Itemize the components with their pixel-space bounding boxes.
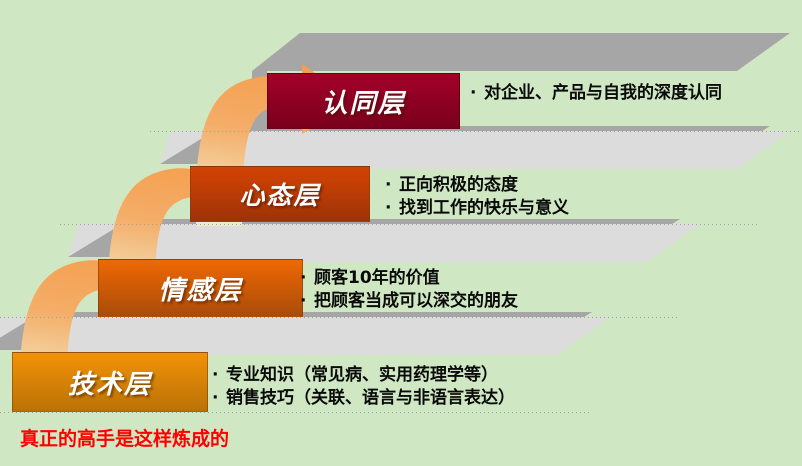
bullet-text: 找到工作的快乐与意义 bbox=[399, 198, 569, 218]
step-label-mindset: 心态层 bbox=[239, 176, 320, 212]
bullet-text: 顾客10年的价值 bbox=[314, 268, 440, 288]
step-label-emotion: 情感层 bbox=[158, 270, 242, 307]
bullet-list-technical: ·专业知识（常见病、实用药理学等） ·销售技巧（关联、语言与非语言表达） bbox=[212, 364, 515, 410]
bullet-marker-icon: · bbox=[300, 267, 314, 290]
bullet-marker-icon: · bbox=[300, 290, 314, 313]
bullet-text: 销售技巧（关联、语言与非语言表达） bbox=[226, 388, 515, 408]
bullet-marker-icon: · bbox=[212, 364, 226, 387]
list-item: ·专业知识（常见病、实用药理学等） bbox=[212, 364, 515, 387]
step-box-identity[interactable]: 认同层 bbox=[267, 73, 460, 129]
step-label-technical: 技术层 bbox=[68, 364, 152, 401]
step-box-emotion[interactable]: 情感层 bbox=[98, 259, 303, 317]
step-tread-identity bbox=[252, 33, 790, 71]
list-item: ·销售技巧（关联、语言与非语言表达） bbox=[212, 387, 515, 410]
bullet-marker-icon: · bbox=[385, 174, 399, 197]
bullet-text: 正向积极的态度 bbox=[399, 175, 518, 195]
bullet-list-emotion: ·顾客10年的价值 ·把顾客当成可以深交的朋友 bbox=[300, 267, 518, 313]
step-box-technical[interactable]: 技术层 bbox=[12, 352, 208, 412]
landing-band-2 bbox=[107, 224, 700, 262]
bullet-marker-icon: · bbox=[385, 197, 399, 220]
list-item: ·对企业、产品与自我的深度认同 bbox=[470, 82, 722, 105]
step-box-mindset[interactable]: 心态层 bbox=[190, 166, 370, 222]
list-item: ·正向积极的态度 bbox=[385, 174, 569, 197]
bullet-list-mindset: ·正向积极的态度 ·找到工作的快乐与意义 bbox=[385, 174, 569, 220]
bullet-text: 对企业、产品与自我的深度认同 bbox=[484, 83, 722, 103]
bullet-marker-icon: · bbox=[470, 82, 484, 105]
landing-band-1 bbox=[199, 131, 790, 169]
bullet-text: 专业知识（常见病、实用药理学等） bbox=[226, 365, 498, 385]
list-item: ·顾客10年的价值 bbox=[300, 267, 518, 290]
bullet-text: 把顾客当成可以深交的朋友 bbox=[314, 291, 518, 311]
slide-canvas: 认同层 心态层 情感层 技术层 ·对企业、产品与自我的深度认同 ·正向积极的态度… bbox=[0, 0, 802, 466]
list-item: ·把顾客当成可以深交的朋友 bbox=[300, 290, 518, 313]
bullet-list-identity: ·对企业、产品与自我的深度认同 bbox=[470, 82, 722, 105]
landing-band-3 bbox=[15, 317, 610, 355]
step-label-identity: 认同层 bbox=[321, 83, 405, 120]
bullet-marker-icon: · bbox=[212, 387, 226, 410]
slide-caption: 真正的高手是这样炼成的 bbox=[20, 424, 229, 451]
list-item: ·找到工作的快乐与意义 bbox=[385, 197, 569, 220]
